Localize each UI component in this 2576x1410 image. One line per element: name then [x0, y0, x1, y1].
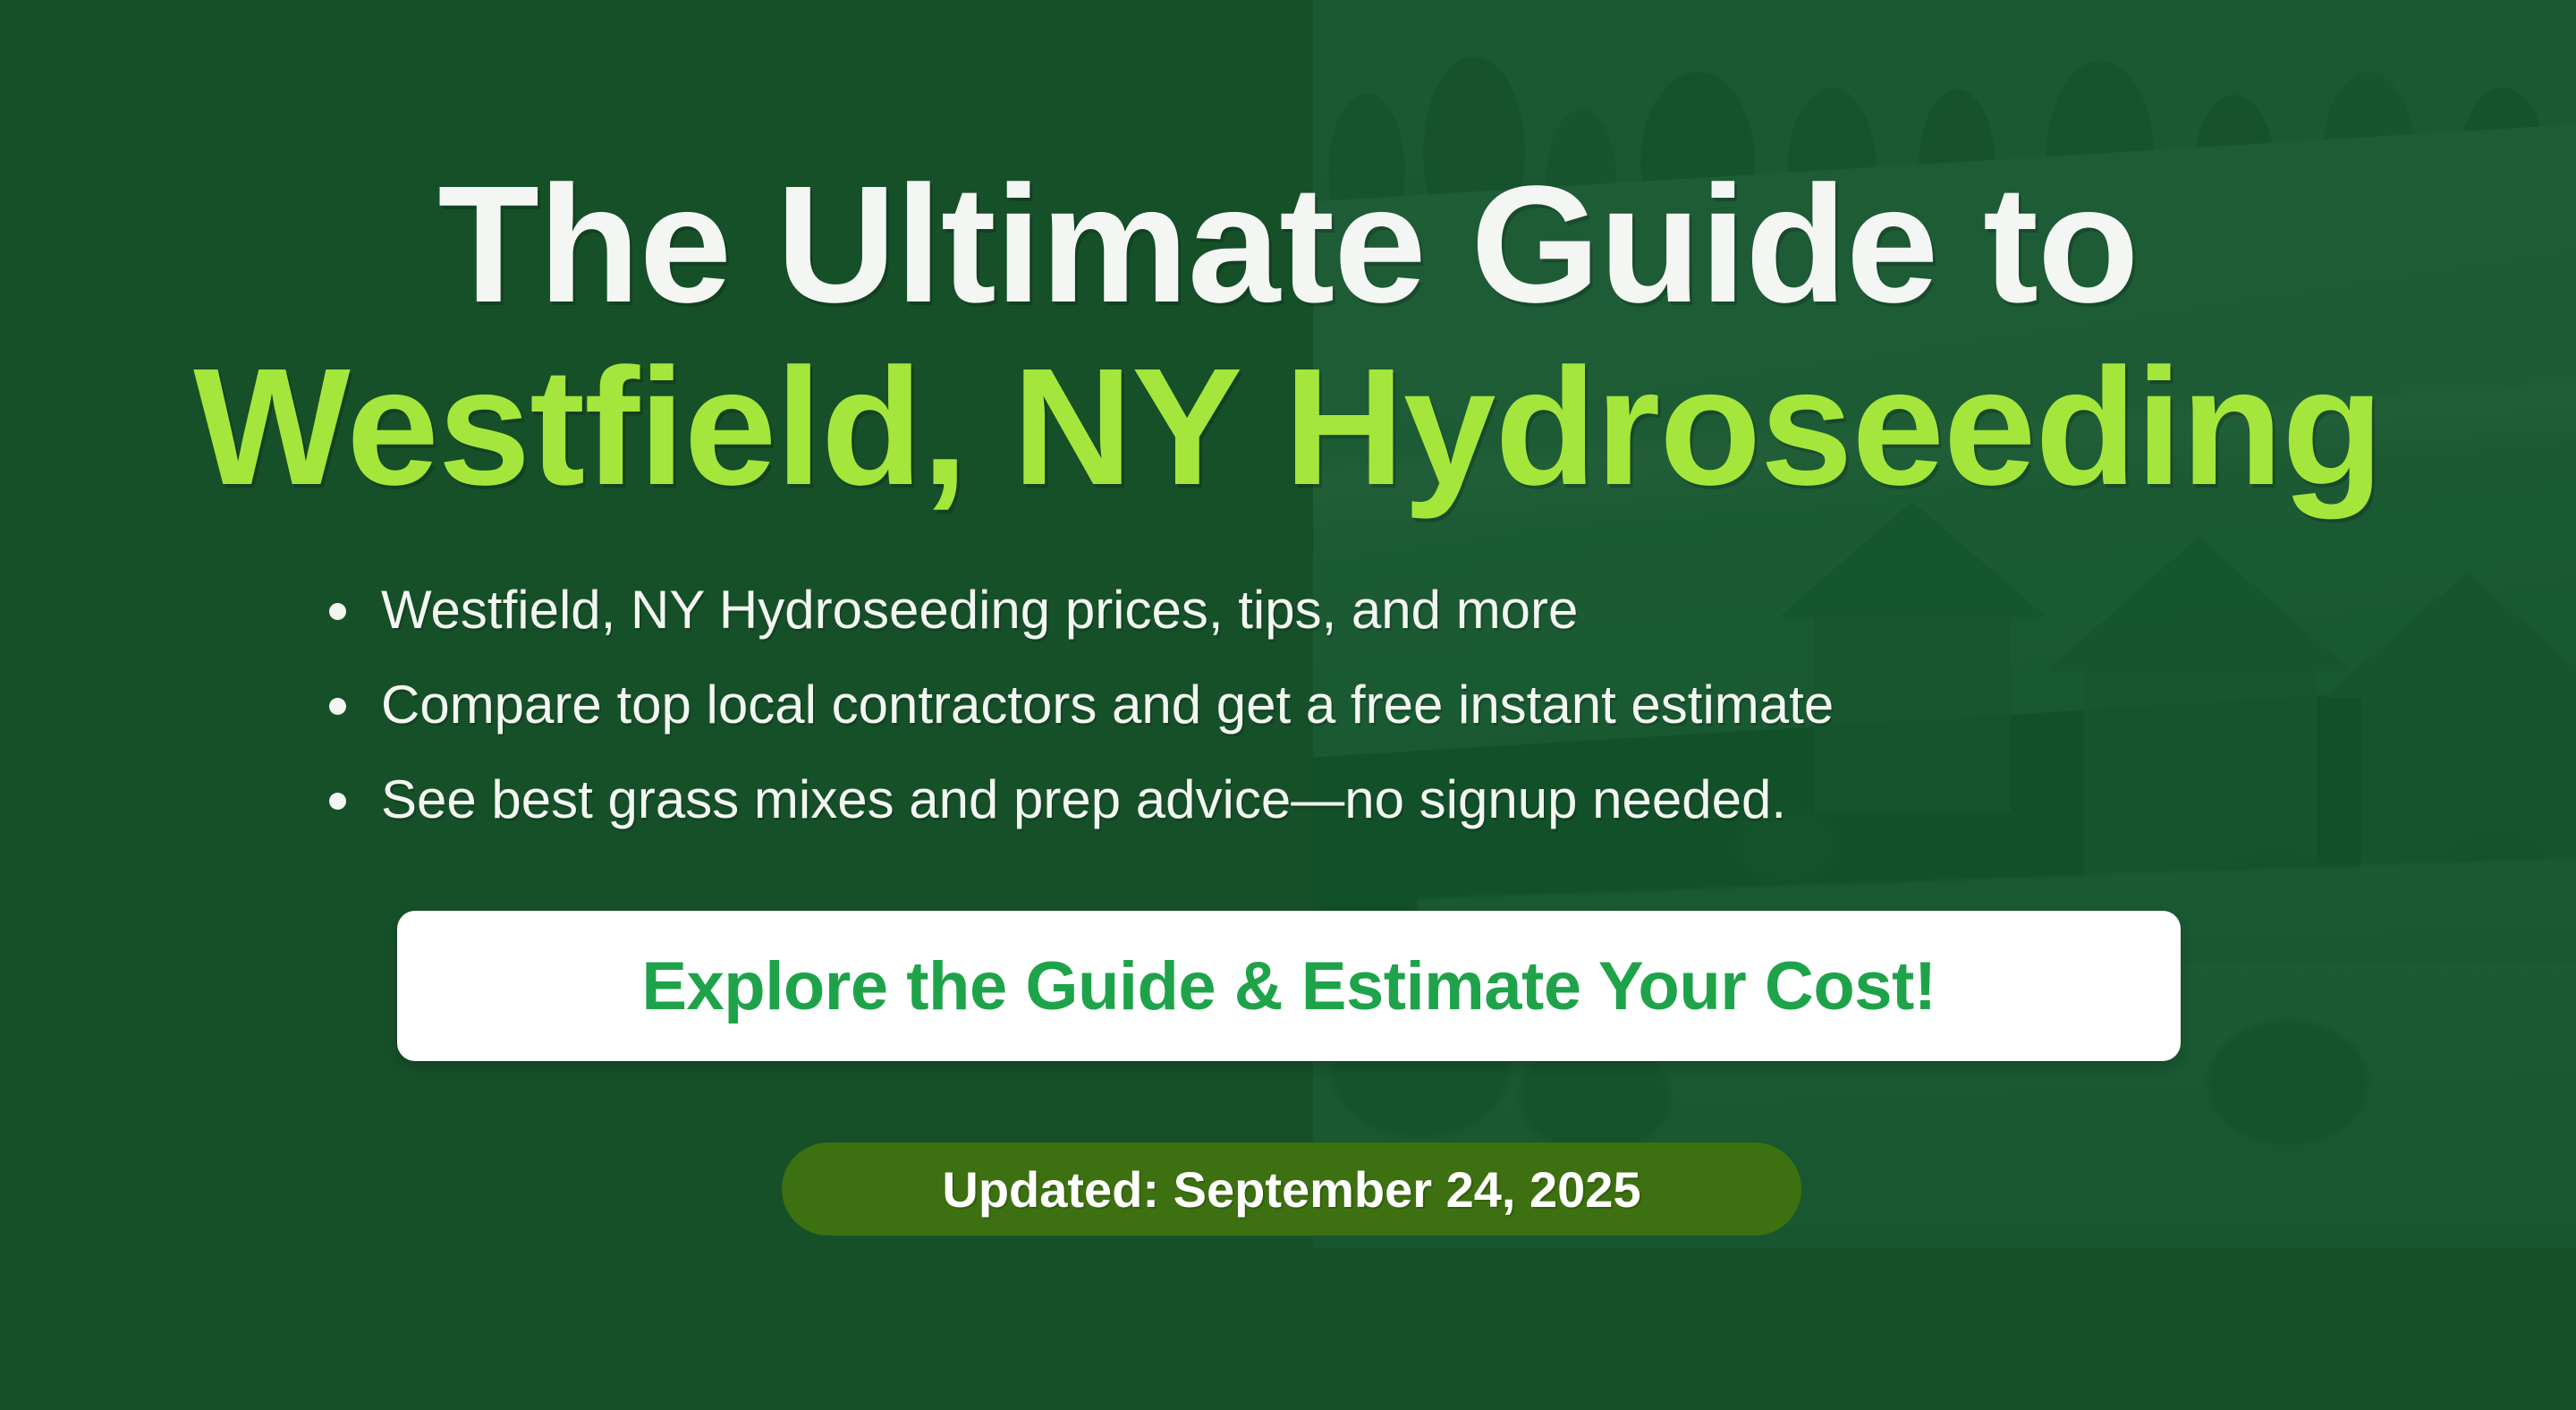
list-item: Westfield, NY Hydroseeding prices, tips,… — [329, 583, 1834, 637]
list-item-label: See best grass mixes and prep advice—no … — [381, 769, 1786, 829]
hero-banner: The Ultimate Guide to Westfield, NY Hydr… — [0, 0, 2576, 1410]
list-item-label: Compare top local contractors and get a … — [381, 675, 1834, 735]
bullet-dot-icon — [329, 603, 346, 620]
list-item-label: Westfield, NY Hydroseeding prices, tips,… — [381, 580, 1578, 640]
status-badge: Updated: September 24, 2025 — [782, 1142, 1801, 1236]
headline-line-1: The Ultimate Guide to — [0, 162, 2576, 328]
status-badge-label: Updated: September 24, 2025 — [942, 1160, 1640, 1219]
explore-guide-estimate-button[interactable]: Explore the Guide & Estimate Your Cost! — [397, 911, 2181, 1061]
banner-content: The Ultimate Guide to Westfield, NY Hydr… — [0, 0, 2576, 1410]
cta-label: Explore the Guide & Estimate Your Cost! — [641, 947, 1936, 1025]
list-item: See best grass mixes and prep advice—no … — [329, 773, 1834, 827]
feature-bullet-list: Westfield, NY Hydroseeding prices, tips,… — [329, 583, 1834, 868]
bullet-dot-icon — [329, 698, 346, 715]
bullet-dot-icon — [329, 793, 346, 810]
headline-line-2: Westfield, NY Hydroseeding — [0, 344, 2576, 511]
page-title: The Ultimate Guide to Westfield, NY Hydr… — [0, 162, 2576, 511]
list-item: Compare top local contractors and get a … — [329, 678, 1834, 732]
